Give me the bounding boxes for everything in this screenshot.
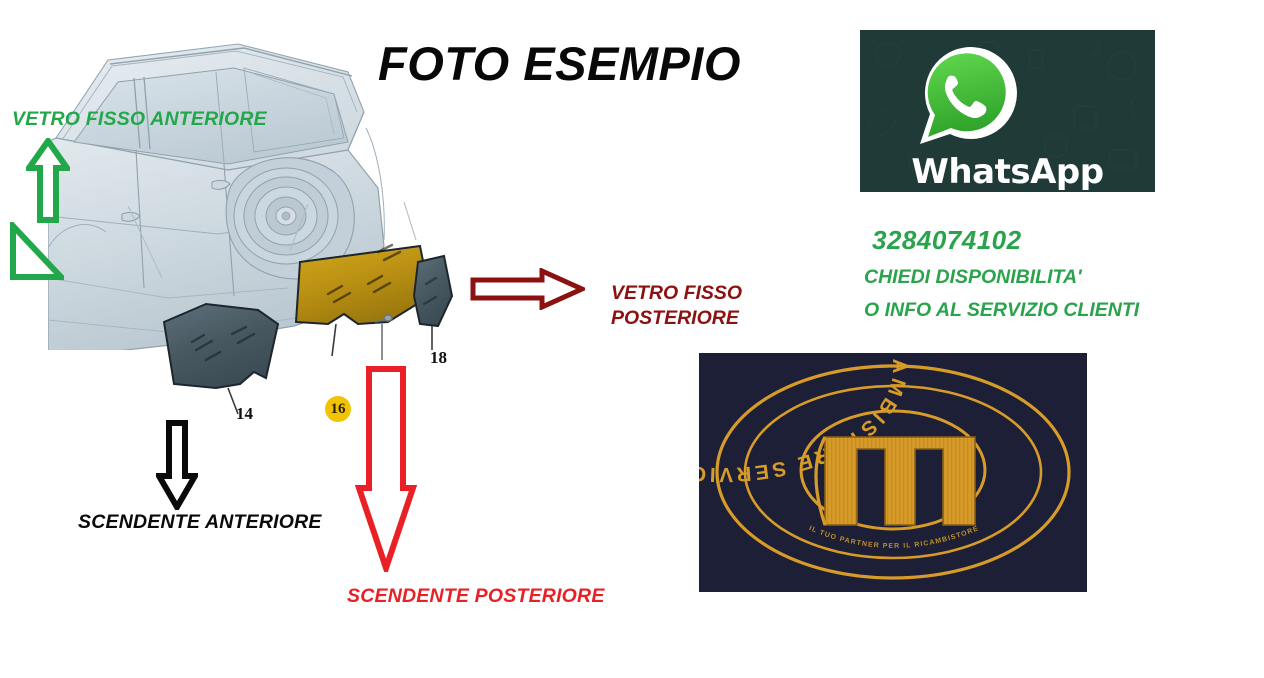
exploded-parts-group xyxy=(120,200,520,450)
part-front-drop-glass xyxy=(164,304,278,388)
part-number-18: 18 xyxy=(430,348,447,368)
callout-label-vetro-fisso-posteriore: VETRO FISSO POSTERIORE xyxy=(611,281,742,331)
arrow-right-icon-darkred xyxy=(470,268,585,310)
whatsapp-phone-number[interactable]: 3284074102 xyxy=(872,225,1022,256)
whatsapp-banner[interactable]: WhatsApp xyxy=(860,30,1155,192)
arrow-down-icon-red xyxy=(355,366,417,572)
part-rear-fixed-glass xyxy=(414,256,452,326)
shop-logo: MRICAMBISTORE SERVICE DI RUSSO MARCO IL … xyxy=(699,353,1087,592)
part-number-16-badge: 16 xyxy=(325,396,351,422)
callout-label-vetro-fisso-anteriore: VETRO FISSO ANTERIORE xyxy=(12,108,267,131)
page-title: FOTO ESEMPIO xyxy=(378,36,798,91)
triangle-marker-icon xyxy=(8,222,64,282)
shop-logo-monogram xyxy=(816,437,975,525)
part-rear-drop-glass xyxy=(296,246,430,324)
poster-canvas: FOTO ESEMPIO xyxy=(0,0,1264,678)
whatsapp-cta-line1: CHIEDI DISPONIBILITA' xyxy=(864,266,1082,289)
callout-label-scendente-anteriore: SCENDENTE ANTERIORE xyxy=(78,511,322,534)
callout-label-line1: VETRO FISSO xyxy=(611,281,742,306)
arrow-up-icon xyxy=(26,138,70,223)
whatsapp-cta-line2: O INFO AL SERVIZIO CLIENTI xyxy=(864,299,1139,322)
callout-label-scendente-posteriore: SCENDENTE POSTERIORE xyxy=(347,585,605,608)
callout-label-line2: POSTERIORE xyxy=(611,306,742,331)
whatsapp-wordmark: WhatsApp xyxy=(860,152,1155,192)
whatsapp-icon xyxy=(908,38,1026,156)
arrow-down-icon-black xyxy=(156,420,198,510)
part-number-14: 14 xyxy=(236,404,253,424)
